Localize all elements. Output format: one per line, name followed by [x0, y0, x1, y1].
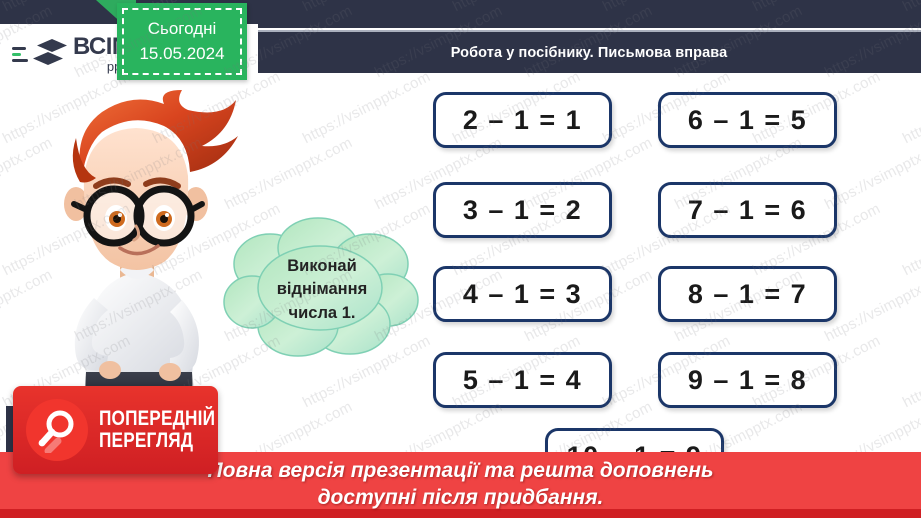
banner-line-1: Повна версія презентації та решта доповн… — [208, 458, 714, 485]
equation-box: 3 – 1 = 2 — [433, 182, 612, 238]
slide-canvas: Робота у посібнику. Письмова вправа ВСІМ… — [0, 0, 921, 518]
banner-line-2: доступні після придбання. — [318, 485, 604, 512]
equation-text: 4 – 1 = 3 — [463, 279, 582, 310]
cloud-line-1: Виконай — [287, 255, 356, 278]
speed-lines-icon — [12, 47, 28, 62]
watermark-text: https://vsimpptx.com — [900, 68, 921, 147]
equation-text: 9 – 1 = 8 — [688, 365, 807, 396]
equation-box: 7 – 1 = 6 — [658, 182, 837, 238]
equation-text: 8 – 1 = 7 — [688, 279, 807, 310]
preview-badge-text: ПОПЕРЕДНІЙ ПЕРЕГЛЯД — [99, 408, 241, 452]
preview-badge[interactable]: ПОПЕРЕДНІЙ ПЕРЕГЛЯД — [13, 386, 218, 474]
equation-box: 2 – 1 = 1 — [433, 92, 612, 148]
equation-box: 9 – 1 = 8 — [658, 352, 837, 408]
graduation-cap-icon — [31, 38, 71, 70]
watermark-text: https://vsimpptx.com — [300, 68, 433, 147]
preview-line-1: ПОПЕРЕДНІЙ — [99, 408, 215, 430]
equation-text: 7 – 1 = 6 — [688, 195, 807, 226]
equation-box: 8 – 1 = 7 — [658, 266, 837, 322]
preview-line-2: ПЕРЕГЛЯД — [99, 430, 215, 452]
date-badge-label: Сьогодні — [148, 17, 217, 42]
speech-cloud: Виконай віднімання числа 1. — [222, 212, 422, 368]
equation-text: 6 – 1 = 5 — [688, 105, 807, 136]
cloud-line-3: числа 1. — [289, 302, 356, 325]
date-badge-value: 15.05.2024 — [139, 42, 224, 67]
watermark-text: https://vsimpptx.com — [900, 332, 921, 411]
page-title: Робота у посібнику. Письмова вправа — [451, 45, 728, 61]
cartoon-boy-illustration — [24, 74, 250, 420]
equation-text: 5 – 1 = 4 — [463, 365, 582, 396]
brand-logo[interactable]: ВСІМ pptx — [12, 35, 131, 73]
equation-box: 4 – 1 = 3 — [433, 266, 612, 322]
equation-text: 3 – 1 = 2 — [463, 195, 582, 226]
equation-box: 6 – 1 = 5 — [658, 92, 837, 148]
cloud-line-2: віднімання — [277, 278, 367, 301]
watermark-text: https://vsimpptx.com — [900, 200, 921, 279]
equation-text: 2 – 1 = 1 — [463, 105, 582, 136]
cloud-text: Виконай віднімання числа 1. — [222, 212, 422, 368]
header-bar: Робота у посібнику. Письмова вправа — [255, 30, 921, 73]
equation-box: 5 – 1 = 4 — [433, 352, 612, 408]
magnifier-icon — [26, 399, 88, 461]
date-badge: Сьогодні 15.05.2024 — [117, 3, 247, 80]
